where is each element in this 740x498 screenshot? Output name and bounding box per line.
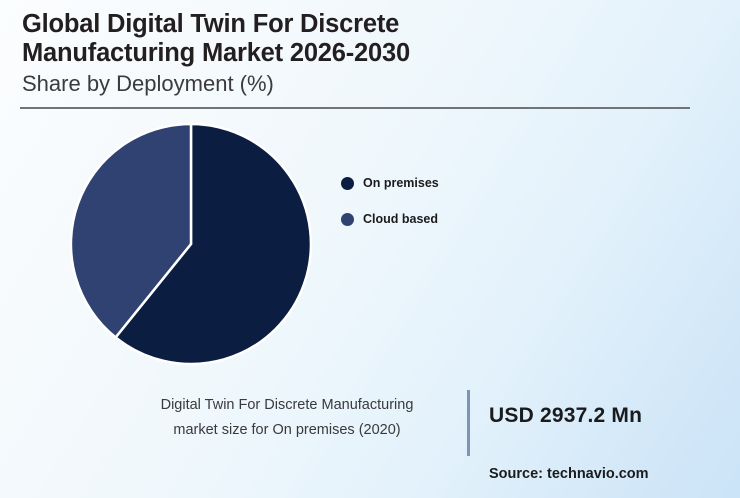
legend-item-label: On premises	[363, 176, 439, 190]
title-line-1: Global Digital Twin For Discrete	[22, 10, 399, 38]
stat-caption: Digital Twin For Discrete Manufacturing …	[122, 393, 452, 443]
source-label: Source: technavio.com	[489, 466, 649, 482]
legend-item-label: Cloud based	[363, 212, 438, 226]
title-line-2: Manufacturing Market 2026-2030	[22, 39, 410, 67]
header-divider	[20, 107, 690, 109]
legend-item-on-premises[interactable]: On premises	[341, 172, 531, 194]
pie-chart	[60, 113, 322, 375]
stat-divider	[467, 390, 470, 456]
infographic-canvas: Global Digital Twin For Discrete Manufac…	[0, 0, 740, 498]
page-title: Global Digital Twin For Discrete Manufac…	[22, 10, 712, 68]
chart-header: Global Digital Twin For Discrete Manufac…	[22, 10, 712, 97]
page-subtitle: Share by Deployment (%)	[22, 71, 712, 97]
stat-caption-line-2: market size for On premises (2020)	[173, 422, 400, 438]
stat-caption-line-1: Digital Twin For Discrete Manufacturing	[161, 397, 414, 413]
chart-legend: On premises Cloud based	[341, 172, 531, 244]
circle-swatch-icon	[341, 177, 354, 190]
pie-chart-svg	[60, 113, 322, 375]
circle-swatch-icon	[341, 213, 354, 226]
stat-value: USD 2937.2 Mn	[489, 404, 642, 428]
legend-item-cloud-based[interactable]: Cloud based	[341, 208, 531, 230]
